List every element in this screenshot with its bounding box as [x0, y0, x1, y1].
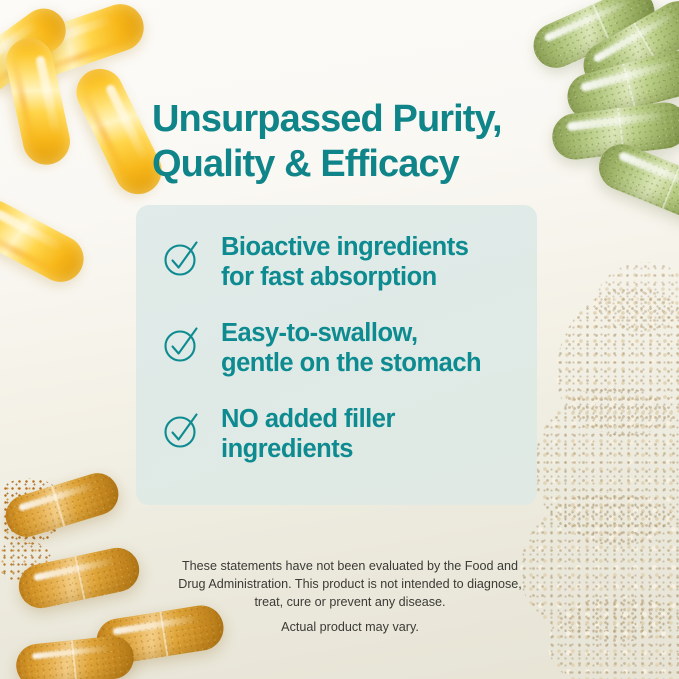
list-item: Easy-to-swallow, gentle on the stomach — [161, 318, 523, 378]
benefits-card: Bioactive ingredients for fast absorptio… — [136, 205, 537, 505]
check-circle-icon — [161, 236, 203, 278]
headline-line-2: Quality & Efficacy — [152, 142, 582, 187]
list-item: NO added filler ingredients — [161, 404, 523, 464]
list-item-label: Bioactive ingredients for fast absorptio… — [221, 232, 468, 292]
product-infographic: Unsurpassed Purity, Quality & Efficacy B… — [0, 0, 679, 679]
list-item: Bioactive ingredients for fast absorptio… — [161, 232, 523, 292]
benefits-list: Bioactive ingredients for fast absorptio… — [161, 232, 523, 464]
fda-disclaimer: These statements have not been evaluated… — [150, 558, 550, 612]
check-circle-icon — [161, 322, 203, 364]
product-vary-note: Actual product may vary. — [150, 620, 550, 634]
list-item-label: NO added filler ingredients — [221, 404, 395, 464]
page-title: Unsurpassed Purity, Quality & Efficacy — [152, 97, 582, 187]
check-circle-icon — [161, 408, 203, 450]
list-item-label: Easy-to-swallow, gentle on the stomach — [221, 318, 481, 378]
headline-line-1: Unsurpassed Purity, — [152, 97, 582, 142]
content-layer: Unsurpassed Purity, Quality & Efficacy B… — [0, 0, 679, 679]
